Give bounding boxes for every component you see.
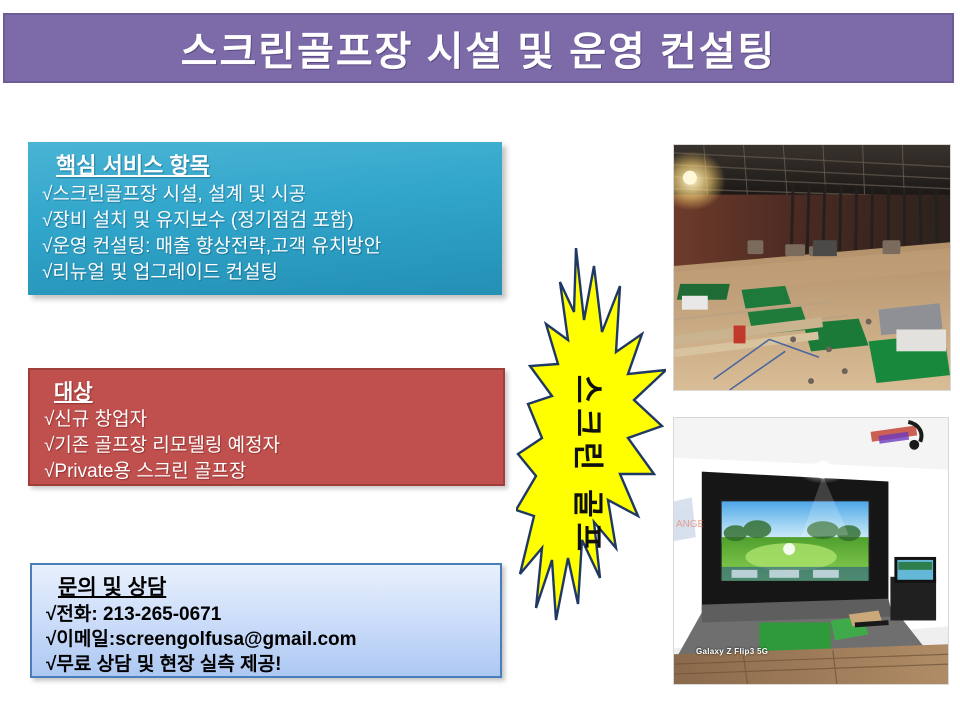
services-box: 핵심 서비스 항목 √스크린골프장 시설, 설계 및 시공 √장비 설치 및 유… (28, 142, 502, 295)
contact-phone: √전화: 213-265-0671 (46, 602, 490, 627)
services-heading: 핵심 서비스 항목 (42, 148, 492, 180)
contact-email: √이메일:screengolfusa@gmail.com (46, 627, 490, 652)
starburst-label-wrap: 스크린 골프 (516, 248, 666, 682)
target-audience-box: 대상 √신규 창업자 √기존 골프장 리모델링 예정자 √Private용 스크… (28, 368, 505, 486)
photo-room: ANGE Galaxy Z Flip3 5G (673, 417, 949, 685)
starburst-label: 스크린 골프 (569, 374, 614, 555)
target-audience-item: √신규 창업자 (44, 407, 493, 433)
target-audience-item: √기존 골프장 리모델링 예정자 (44, 433, 493, 459)
contact-heading: 문의 및 상담 (46, 571, 490, 601)
starburst-callout: 스크린 골프 (516, 248, 666, 682)
construction-photo-graphic (674, 145, 950, 390)
photo-construction (673, 144, 951, 391)
services-item: √운영 컨설팅: 매출 향상전략,고객 유치방안 (42, 234, 492, 260)
contact-box: 문의 및 상담 √전화: 213-265-0671 √이메일:screengol… (30, 563, 502, 678)
services-item: √스크린골프장 시설, 설계 및 시공 (42, 182, 492, 208)
target-audience-heading: 대상 (44, 376, 493, 406)
svg-text:ANGE: ANGE (676, 519, 704, 530)
room-photo-graphic: ANGE (674, 418, 948, 684)
services-item: √리뉴얼 및 업그레이드 컨설팅 (42, 260, 492, 286)
contact-note: √무료 상담 및 현장 실측 제공! (46, 652, 490, 677)
slide-title-banner: 스크린골프장 시설 및 운영 컨설팅 (3, 13, 954, 83)
page-title: 스크린골프장 시설 및 운영 컨설팅 (181, 19, 777, 77)
target-audience-item: √Private용 스크린 골프장 (44, 459, 493, 485)
photo-watermark: Galaxy Z Flip3 5G (696, 647, 768, 656)
services-item: √장비 설치 및 유지보수 (정기점검 포함) (42, 208, 492, 234)
slide-canvas: 스크린골프장 시설 및 운영 컨설팅 핵심 서비스 항목 √스크린골프장 시설,… (0, 0, 960, 720)
